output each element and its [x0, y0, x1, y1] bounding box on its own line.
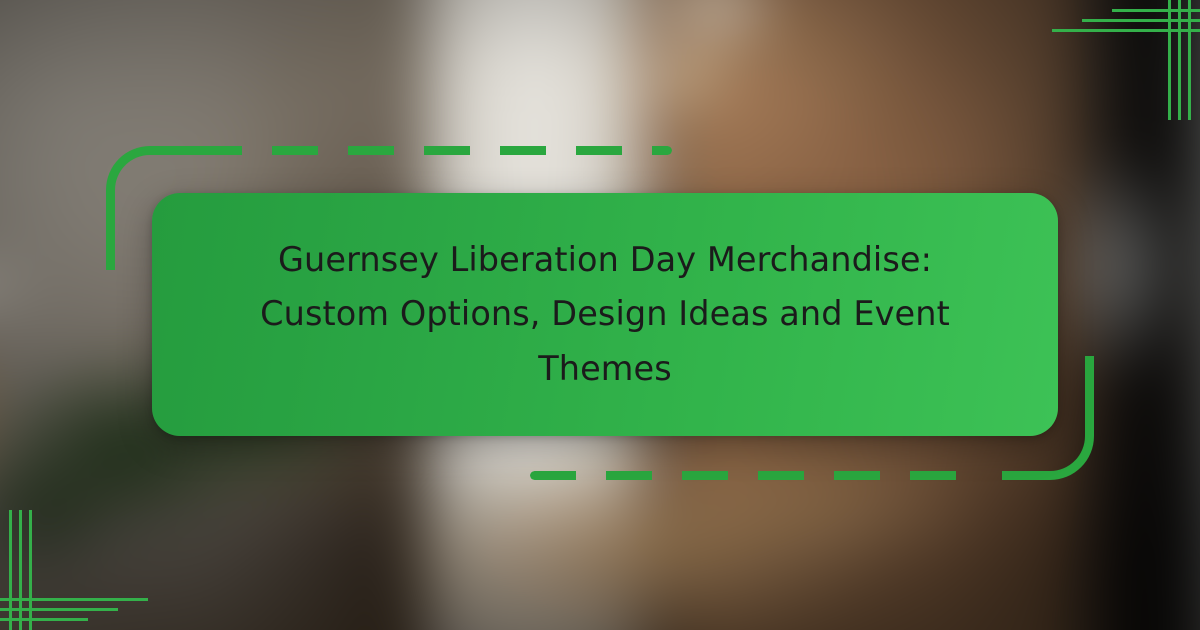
- corner-bracket-top-right: [1040, 0, 1200, 120]
- corner-hook-top-left-cap: [106, 261, 115, 270]
- bracket-line-horizontal-inner: [0, 618, 88, 621]
- bracket-line-vertical-middle: [19, 510, 22, 630]
- bracket-line-vertical-middle: [1178, 0, 1181, 120]
- bracket-line-vertical-inner: [9, 510, 12, 630]
- bracket-line-vertical-outer: [29, 510, 32, 630]
- page-title: Guernsey Liberation Day Merchandise: Cus…: [216, 233, 994, 396]
- corner-bracket-bottom-left: [0, 510, 160, 630]
- bracket-line-vertical-outer: [1168, 0, 1171, 120]
- headline-card: Guernsey Liberation Day Merchandise: Cus…: [152, 193, 1058, 436]
- bracket-line-horizontal-inner: [1112, 9, 1200, 12]
- social-card-canvas: Guernsey Liberation Day Merchandise: Cus…: [0, 0, 1200, 630]
- bracket-line-horizontal-outer: [0, 598, 148, 601]
- bracket-line-horizontal-middle: [0, 608, 118, 611]
- bracket-line-horizontal-middle: [1082, 19, 1200, 22]
- bracket-line-vertical-inner: [1188, 0, 1191, 120]
- dashed-rail-bottom: [530, 471, 962, 480]
- corner-hook-bottom-right-cap: [1085, 356, 1094, 365]
- dashed-rail-top: [196, 146, 672, 155]
- bracket-line-horizontal-outer: [1052, 29, 1200, 32]
